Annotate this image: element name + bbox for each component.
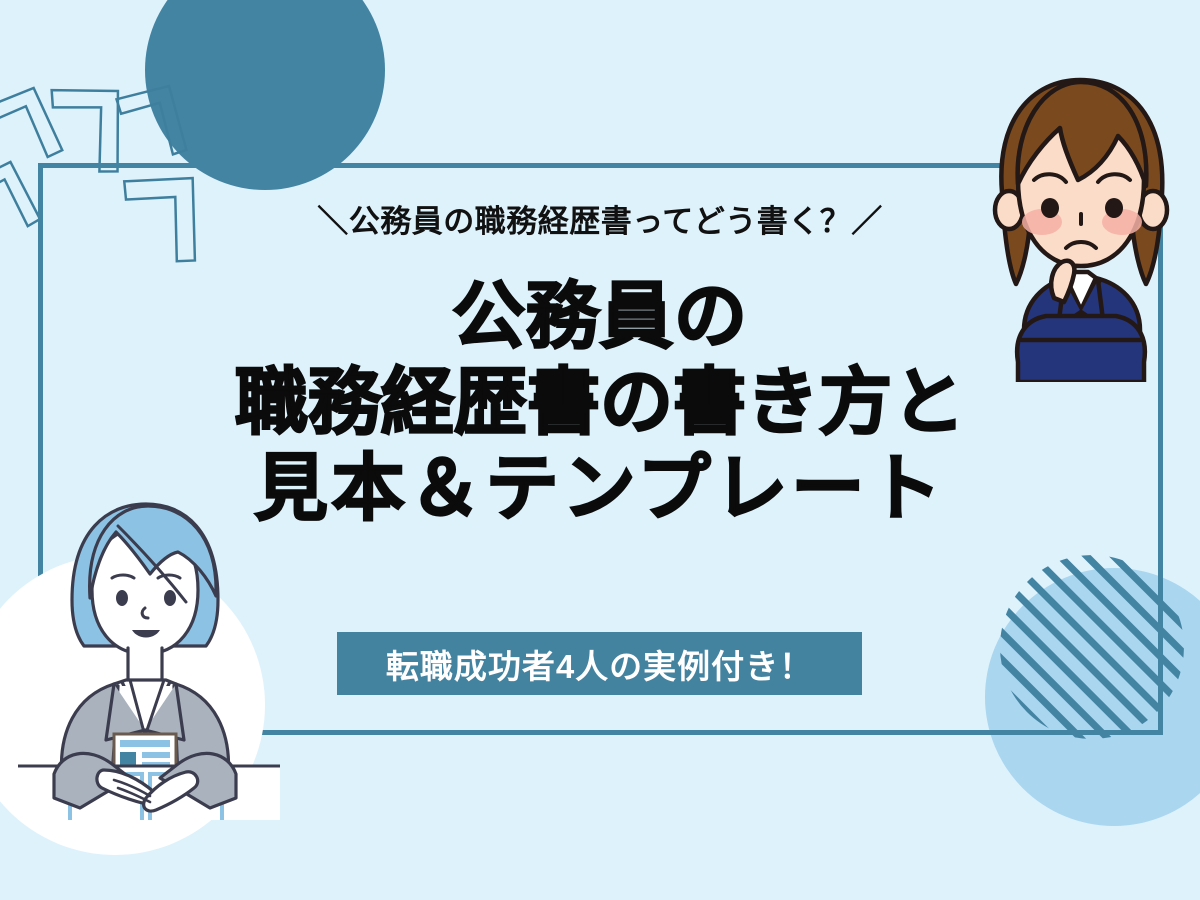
chevron-mark-3-icon [111, 77, 211, 177]
banner-text: 転職成功者4人の実例付き！ [386, 640, 813, 688]
consultant-woman-illustration [18, 478, 280, 820]
thinking-woman-illustration [962, 62, 1200, 382]
thumbnail-canvas: ＼公務員の職務経歴書ってどう書く？／ 公務員の 職務経歴書の書き方と 見本＆テン… [0, 0, 1200, 900]
highlight-banner: 転職成功者4人の実例付き！ [337, 632, 862, 695]
